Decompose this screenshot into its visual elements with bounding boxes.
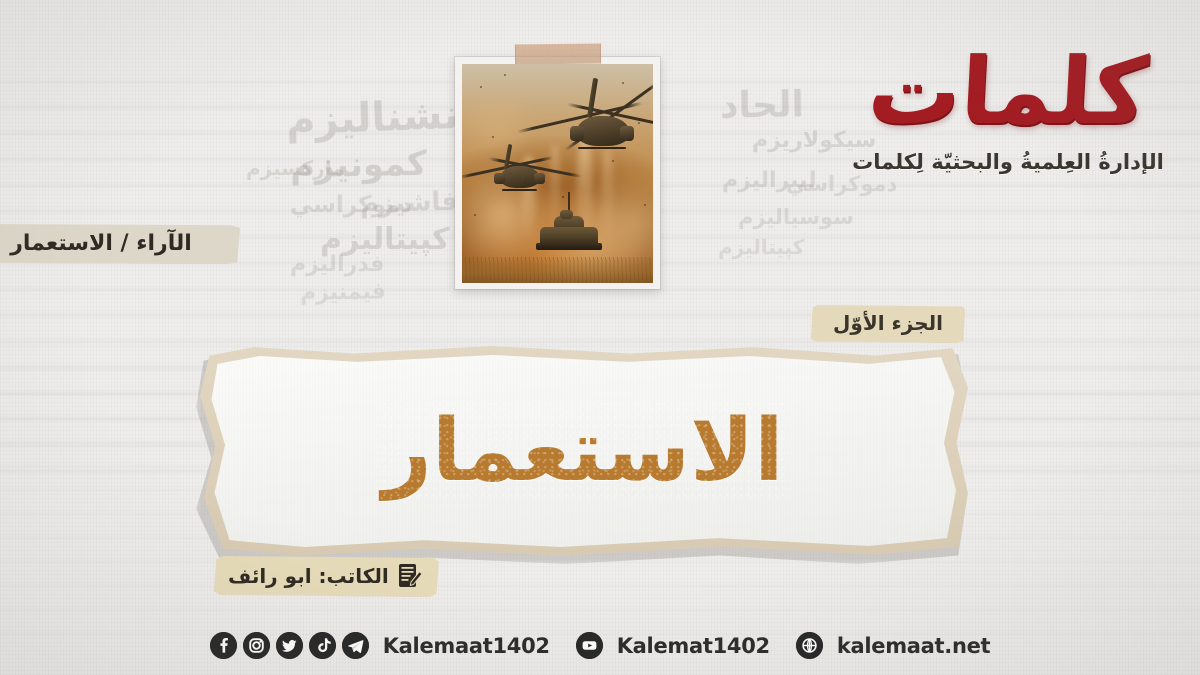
brand-block: كلمات الإدارةُ العِلميةُ والبحثيّة لِكلم… [838, 48, 1178, 174]
poster-canvas: نشناليزم كمونيزم ماركسيزم دموكراسي فاشيز… [0, 0, 1200, 675]
debris-speck [638, 122, 640, 124]
kalemaat-logo[interactable]: كلمات [836, 48, 1181, 136]
part-badge: الجزء الأوّل [811, 305, 965, 343]
debris-speck [480, 86, 482, 88]
twitter-icon[interactable] [276, 632, 303, 659]
wordcloud-left-8: فيمنيزم [300, 279, 386, 305]
tank-icon [536, 214, 602, 258]
telegram-icon[interactable] [342, 632, 369, 659]
debris-speck [474, 214, 476, 216]
debris-speck [622, 82, 624, 84]
wordcloud-left-4: دموكراسي [290, 192, 412, 218]
social-handle-youtube[interactable]: Kalemat1402 [617, 634, 770, 658]
website-url[interactable]: kalemaat.net [837, 634, 990, 658]
author-badge: الكاتب: ابو رائف [214, 556, 439, 597]
title-card: الاستعمار [207, 352, 959, 550]
wordcloud-right-4: دموكراسي [786, 172, 897, 196]
tape-strip [514, 44, 600, 65]
website-icon[interactable] [796, 632, 823, 659]
wordcloud-right-3: ليبراليزم [722, 168, 817, 193]
wordcloud-left-2: كمونيزم [290, 144, 427, 186]
social-group-website: kalemaat.net [796, 632, 990, 659]
author-name: الكاتب: ابو رائف [228, 564, 389, 588]
brand-tagline: الإدارةُ العِلميةُ والبحثيّة لِكلمات [838, 150, 1178, 174]
wordcloud-right-1: الحاد [720, 84, 804, 126]
wordcloud-left-7: فدراليزم [290, 252, 384, 277]
wordcloud-right-5: سوسياليزم [738, 205, 854, 229]
debris-speck [644, 204, 646, 206]
youtube-icon[interactable] [576, 632, 603, 659]
rotor-wash [602, 148, 613, 244]
footer-social-bar: Kalemaat1402 Kalemat1402 kalemaat.net [0, 632, 1200, 659]
photo-image [462, 64, 653, 283]
debris-speck [524, 182, 526, 184]
foreground-grass [462, 257, 653, 283]
debris-speck [562, 196, 564, 198]
instagram-icon[interactable] [243, 632, 270, 659]
debris-speck [492, 136, 494, 138]
social-group-youtube: Kalemat1402 [576, 632, 770, 659]
wordcloud-left-1: نشناليزم [285, 92, 459, 144]
debris-speck [612, 160, 614, 162]
debris-speck [504, 74, 506, 76]
helicopter-icon [550, 94, 653, 156]
social-group-main: Kalemaat1402 [210, 632, 550, 659]
facebook-icon[interactable] [210, 632, 237, 659]
photo-caption: الآراء / الاستعمار [0, 224, 240, 264]
wordcloud-left-3: ماركسيزم [246, 156, 345, 180]
write-note-icon [397, 562, 423, 590]
helicopter-icon [480, 152, 562, 200]
tiktok-icon[interactable] [309, 632, 336, 659]
social-handle-main[interactable]: Kalemaat1402 [383, 634, 550, 658]
wordcloud-left-5: فاشيزم [360, 187, 459, 220]
wordcloud-left-6: كپيتاليزم [320, 222, 450, 257]
wordcloud-right-6: كپيتاليزم [718, 235, 804, 259]
photo-card [455, 57, 660, 289]
page-title: الاستعمار [382, 408, 783, 494]
